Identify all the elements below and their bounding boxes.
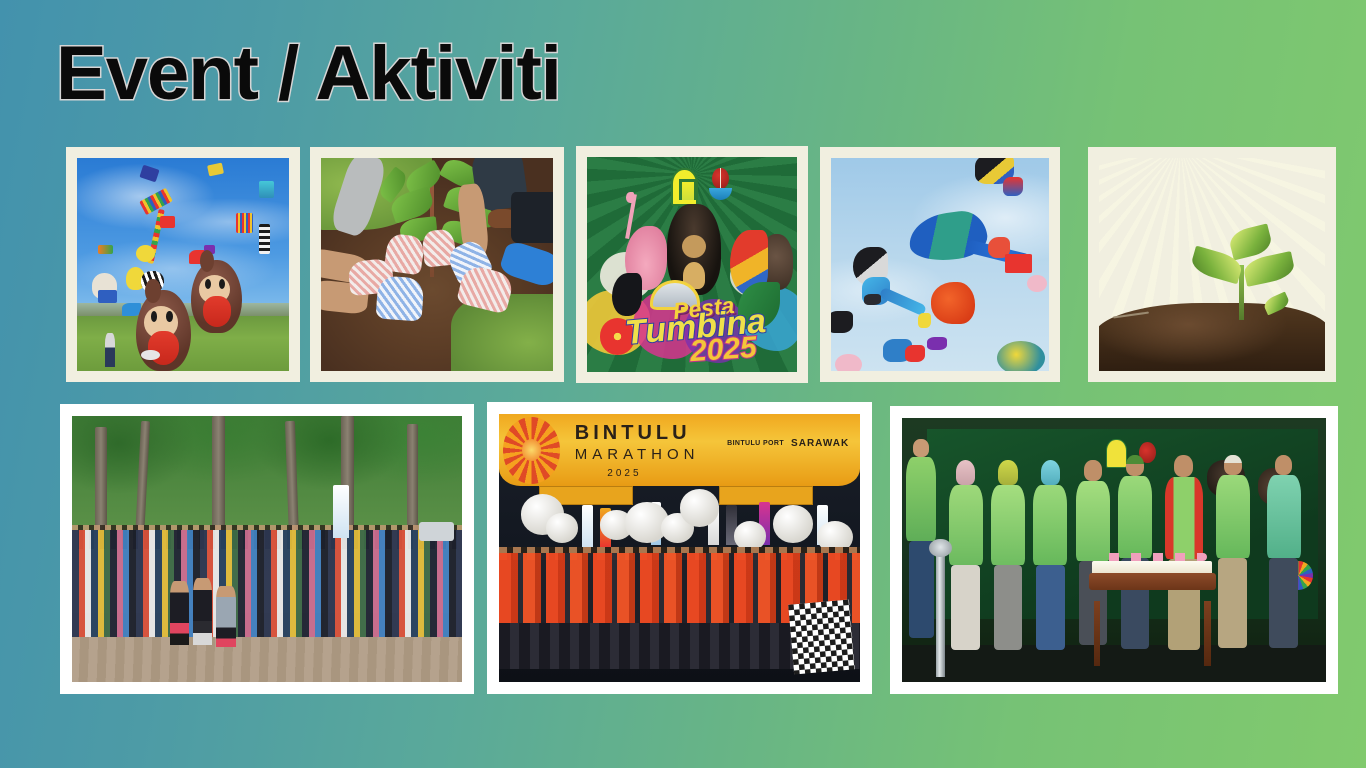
kite-icon xyxy=(98,245,113,254)
gallery-item-fun-run[interactable] xyxy=(60,404,474,694)
torso xyxy=(1033,485,1067,565)
torso xyxy=(906,457,936,541)
chipmunk-kite-icon xyxy=(191,260,242,332)
legs xyxy=(994,565,1022,649)
attendee xyxy=(949,460,983,671)
chipmunk-eye xyxy=(205,279,211,289)
dinosaur-kite-icon xyxy=(931,282,975,325)
legs xyxy=(909,541,934,639)
glove-blue xyxy=(375,276,424,322)
globe-icon xyxy=(712,168,729,189)
table-top xyxy=(1089,573,1216,590)
legs xyxy=(1218,558,1246,649)
marathon-subtitle: MARATHON xyxy=(575,446,700,463)
rope-stanchion xyxy=(936,555,945,676)
sponsor-logo-sarawak: SARAWAK xyxy=(791,438,849,449)
marathon-title: BINTULU xyxy=(575,422,691,445)
kite-icon xyxy=(259,181,274,198)
photo-seedling xyxy=(1099,158,1325,371)
hijab xyxy=(1041,460,1061,485)
kite-icon xyxy=(122,303,141,316)
photo-cake-ceremony xyxy=(902,418,1326,682)
hijab xyxy=(998,460,1018,485)
chipmunk-face xyxy=(144,306,178,338)
gallery-item-cake-ceremony[interactable] xyxy=(890,406,1338,694)
marathon-year: 2025 xyxy=(607,468,641,479)
kite-icon xyxy=(905,345,925,362)
torso xyxy=(991,485,1025,565)
kite-icon xyxy=(927,337,947,350)
kite-icon xyxy=(1003,177,1023,196)
gallery-item-kites-in-sky[interactable] xyxy=(820,147,1060,382)
sun-logo-icon xyxy=(503,417,561,484)
child-runner xyxy=(216,586,236,647)
bag-icon xyxy=(511,192,553,243)
attendee xyxy=(991,460,1025,671)
checkered-flag-icon xyxy=(789,599,856,674)
gallery-item-kite-festival[interactable] xyxy=(66,147,300,382)
head xyxy=(1275,455,1293,475)
photo-kite-festival xyxy=(77,158,289,371)
kite-icon xyxy=(259,224,270,254)
photo-bintulu-marathon: BINTULU MARATHON 2025 BINTULU PORT SARAW… xyxy=(499,414,860,682)
torso xyxy=(1076,481,1110,561)
table-leg xyxy=(1094,601,1100,666)
tree-trunk xyxy=(212,416,224,538)
sponsor-logos: BINTULU PORT SARAWAK xyxy=(727,438,849,449)
balloon-icon xyxy=(680,489,720,527)
bear-muzzle xyxy=(682,235,706,258)
kite-icon xyxy=(98,290,117,303)
hijab xyxy=(956,460,976,485)
sponsor-flag xyxy=(582,505,593,548)
council-globe-logo-icon xyxy=(709,168,732,202)
attendee xyxy=(906,439,936,671)
chipmunk-face xyxy=(199,275,231,304)
ground-kite-icon xyxy=(141,350,160,361)
head-with-cap xyxy=(1126,455,1144,476)
child-runner xyxy=(170,581,190,645)
event-banner-flag xyxy=(333,485,349,538)
torso-red-vest xyxy=(1165,477,1203,559)
kite-icon xyxy=(236,213,253,232)
head xyxy=(913,439,928,457)
child-runner xyxy=(193,578,213,645)
torso xyxy=(949,485,983,565)
kite-icon xyxy=(831,311,853,332)
head xyxy=(1174,455,1193,477)
cake-table xyxy=(1089,561,1216,667)
photo-pesta-tumbina-poster: Pesta Tumbina 2025 xyxy=(587,157,797,372)
kite-icon xyxy=(835,354,861,371)
sarawak-state-crest-icon xyxy=(671,168,698,207)
chipmunk-eye xyxy=(166,311,173,322)
torso xyxy=(1216,475,1250,557)
legs xyxy=(1036,565,1064,649)
photo-fun-run xyxy=(72,416,462,682)
balloon-icon xyxy=(546,513,578,542)
kite-icon xyxy=(918,313,931,328)
head xyxy=(1084,460,1102,480)
legs xyxy=(1269,558,1297,649)
crowd-shirts xyxy=(72,530,462,636)
page-title: Event / Aktiviti xyxy=(56,34,561,114)
parked-vehicle xyxy=(419,522,454,541)
gallery-item-tree-planting[interactable] xyxy=(310,147,564,382)
book-icon xyxy=(709,188,732,200)
person-silhouette xyxy=(105,333,116,367)
attendee xyxy=(1033,460,1067,671)
attendee xyxy=(1216,455,1250,671)
head-with-cap xyxy=(1224,455,1242,475)
sponsor-logo-bintulu-port: BINTULU PORT xyxy=(727,440,784,447)
gallery-item-pesta-tumbina-poster[interactable]: Pesta Tumbina 2025 xyxy=(576,146,808,383)
tree-canopy xyxy=(72,416,462,538)
attendee xyxy=(1267,455,1301,671)
poster-year: 2025 xyxy=(689,331,758,370)
kite-icon xyxy=(1027,275,1047,292)
kite-icon xyxy=(997,341,1045,371)
kite-icon xyxy=(160,216,175,229)
toucan-icon xyxy=(612,273,641,316)
torso xyxy=(1267,475,1301,557)
gallery-item-bintulu-marathon[interactable]: BINTULU MARATHON 2025 BINTULU PORT SARAW… xyxy=(487,402,872,694)
gallery-item-seedling[interactable] xyxy=(1088,147,1336,382)
tree-trunk xyxy=(407,424,418,541)
balloon-icon xyxy=(773,505,813,543)
kite-icon xyxy=(1005,254,1031,273)
photo-tree-planting xyxy=(321,158,553,371)
photo-kites-in-sky xyxy=(831,158,1049,371)
torso xyxy=(1118,476,1152,558)
legs xyxy=(951,565,979,649)
table-leg xyxy=(1204,601,1210,666)
kite-icon xyxy=(864,294,881,305)
